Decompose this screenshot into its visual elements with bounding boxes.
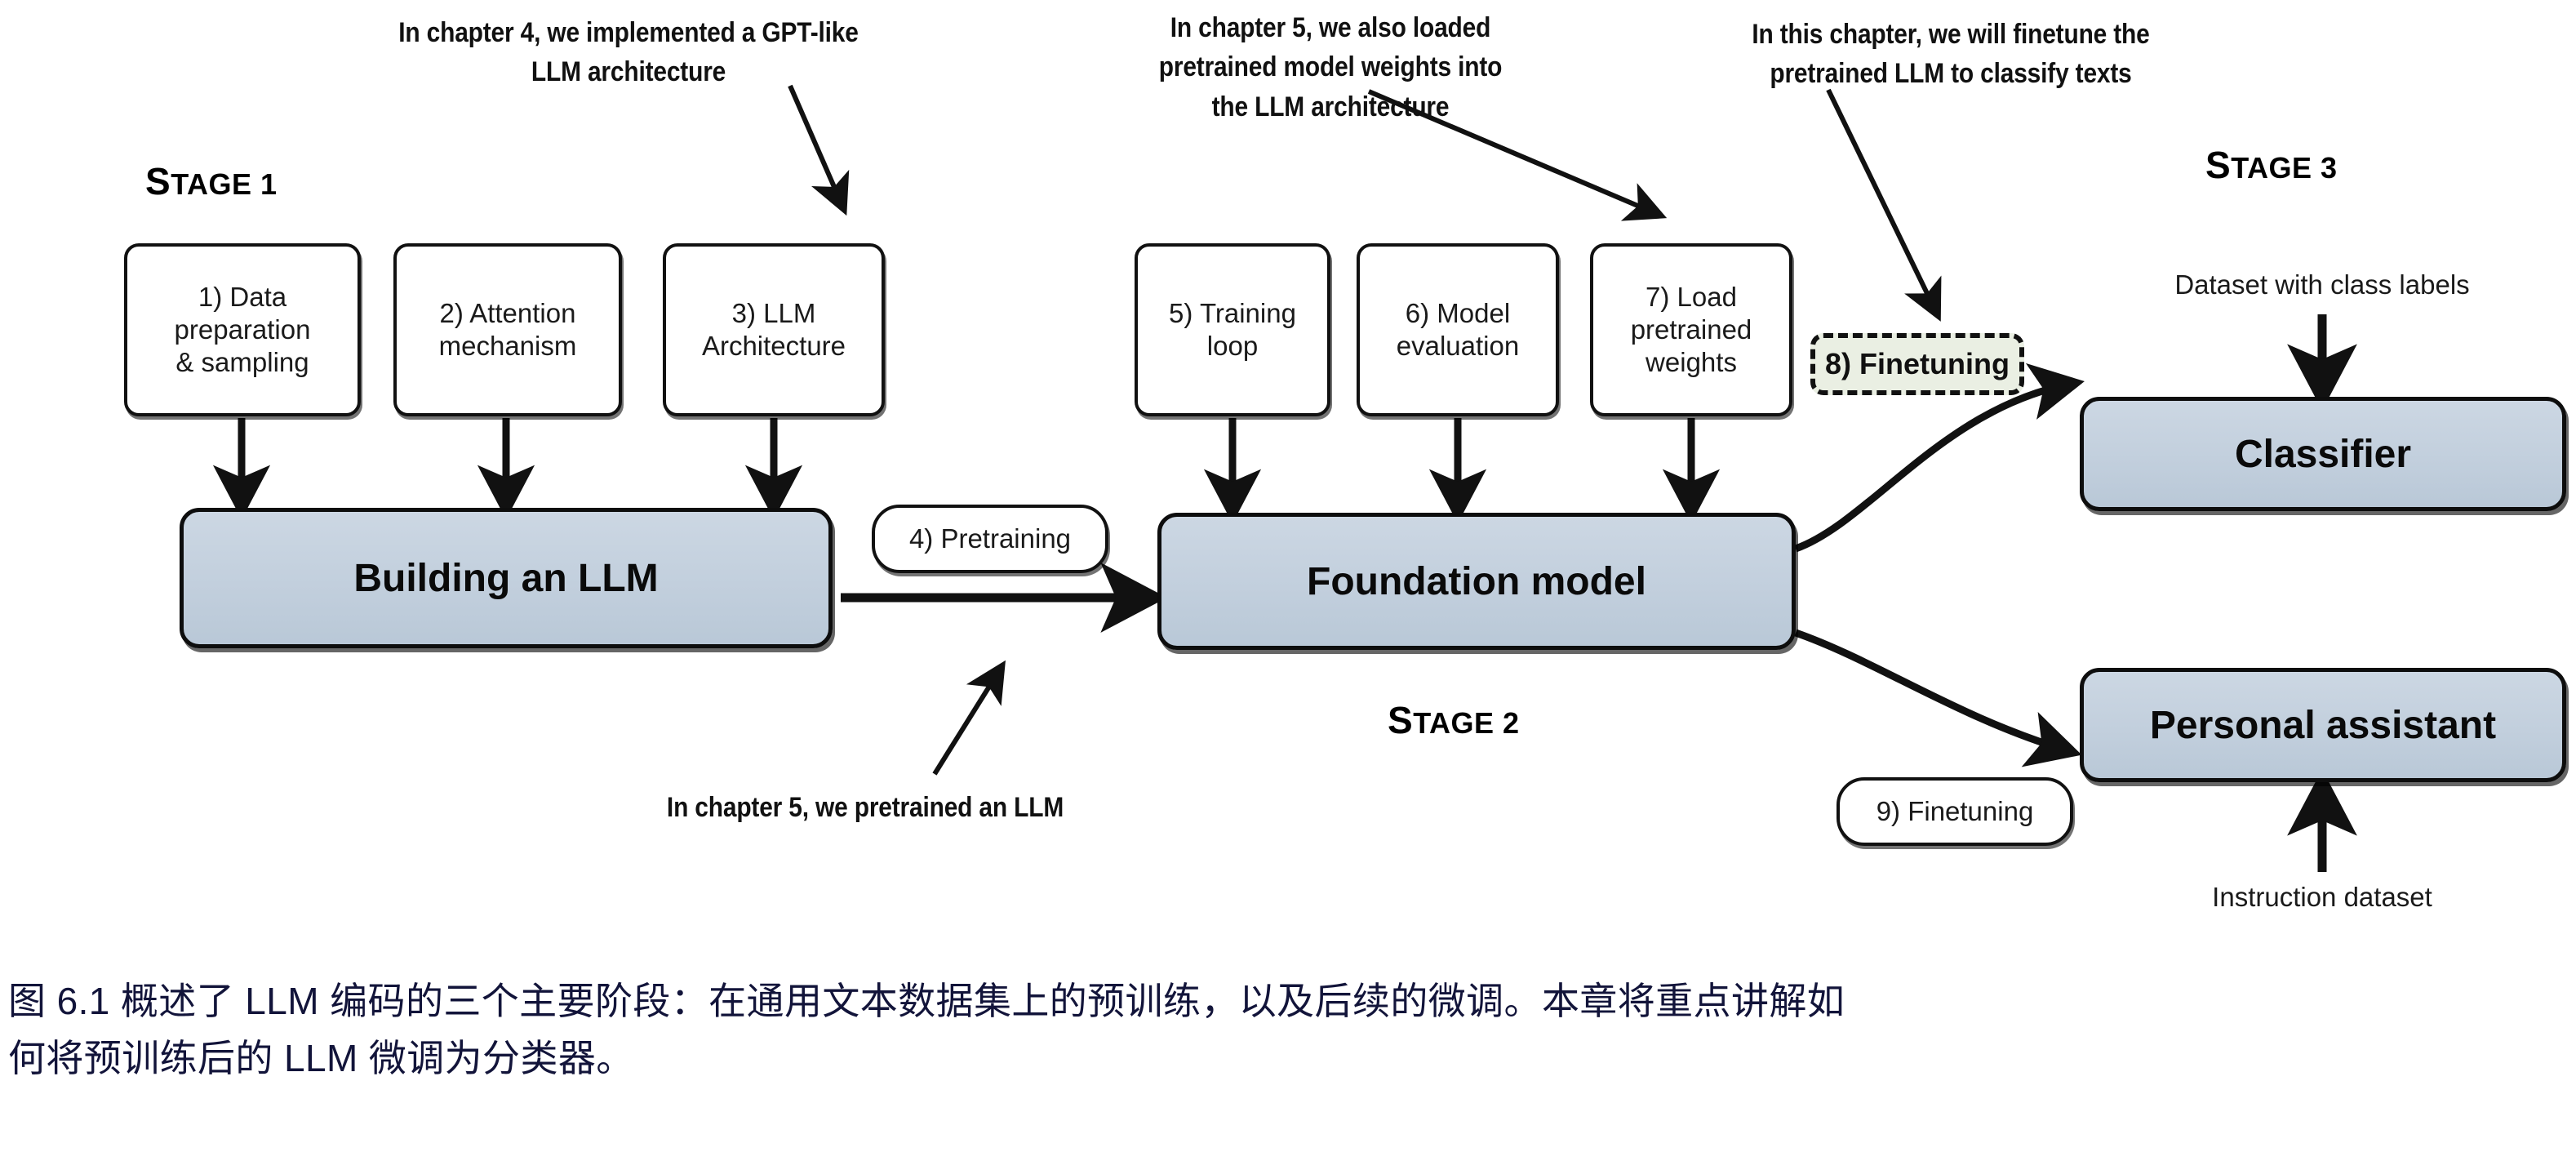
label-pretraining[interactable]: 4) Pretraining <box>872 505 1108 573</box>
step-box-data-preparation[interactable]: 1) Data preparation & sampling <box>124 243 361 416</box>
result-box-foundation-model[interactable]: Foundation model <box>1157 513 1796 650</box>
figure-caption: 图 6.1 概述了 LLM 编码的三个主要阶段：在通用文本数据集上的预训练，以及… <box>8 973 2538 1088</box>
figure-root: In chapter 4, we implemented a GPT-like … <box>0 0 2576 1161</box>
result-box-personal-assistant[interactable]: Personal assistant <box>2080 668 2566 782</box>
arrow-foundation-to-classifier <box>1796 384 2072 549</box>
step-box-model-evaluation[interactable]: 6) Model evaluation <box>1357 243 1559 416</box>
label-finetuning-assistant[interactable]: 9) Finetuning <box>1837 777 2073 846</box>
label-dataset-with-class-labels: Dataset with class labels <box>2077 269 2567 300</box>
caption-line-1: 图 6.1 概述了 LLM 编码的三个主要阶段：在通用文本数据集上的预训练，以及… <box>8 973 2538 1030</box>
annotation-arrow-ch4 <box>790 86 842 206</box>
stage-3-label: STAGE 3 <box>2205 143 2338 187</box>
arrow-foundation-to-assistant <box>1796 633 2069 751</box>
step-box-attention-mechanism[interactable]: 2) Attention mechanism <box>393 243 622 416</box>
annotation-chapter5-pretrained: In chapter 5, we pretrained an LLM <box>578 788 1153 827</box>
annotation-chapter5-weights: In chapter 5, we also loaded pretrained … <box>1086 8 1574 127</box>
step-box-load-pretrained-weights[interactable]: 7) Load pretrained weights <box>1590 243 1792 416</box>
stage-2-label: STAGE 2 <box>1388 698 1520 742</box>
label-instruction-dataset: Instruction dataset <box>2077 882 2567 913</box>
step-box-llm-architecture[interactable]: 3) LLM Architecture <box>663 243 885 416</box>
caption-line-2: 何将预训练后的 LLM 微调为分类器。 <box>8 1030 2538 1088</box>
stage-1-label: STAGE 1 <box>145 159 278 203</box>
annotation-arrow-this-chapter <box>1828 90 1936 312</box>
annotation-this-chapter: In this chapter, we will finetune the pr… <box>1663 15 2238 94</box>
annotation-arrow-ch5-pretrain <box>935 669 1000 774</box>
annotation-chapter4: In chapter 4, we implemented a GPT-like … <box>341 13 916 92</box>
step-box-training-loop[interactable]: 5) Training loop <box>1135 243 1330 416</box>
highlight-box-finetuning-classifier[interactable]: 8) Finetuning <box>1810 333 2024 395</box>
result-box-building-an-llm[interactable]: Building an LLM <box>180 508 833 648</box>
result-box-classifier[interactable]: Classifier <box>2080 397 2566 511</box>
